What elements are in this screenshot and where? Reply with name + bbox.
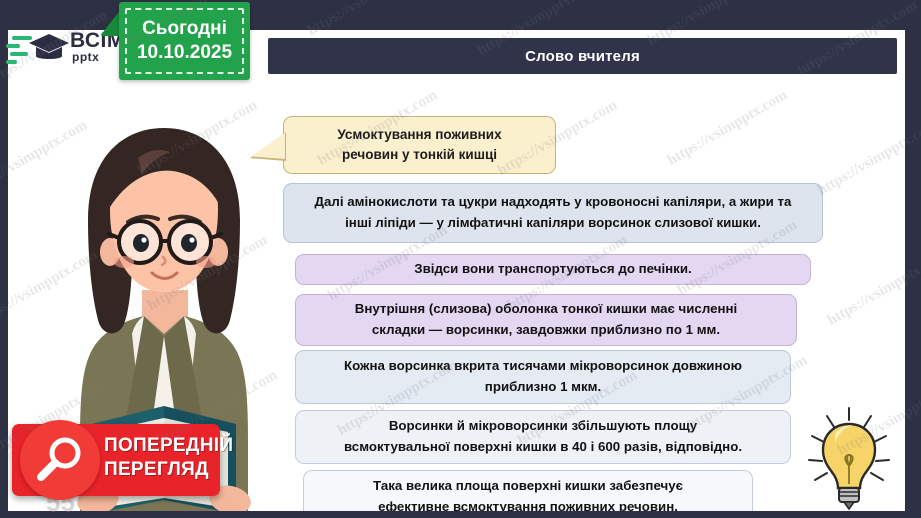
preview-badge[interactable]: ПОПЕРЕДНІЙ ПЕРЕГЛЯД <box>12 424 220 496</box>
today-label: Сьогодні <box>142 17 227 41</box>
today-badge: Сьогодні 10.10.2025 <box>119 2 250 80</box>
content-line: Ворсинки й мікроворсинки збільшують площ… <box>296 416 790 437</box>
content-line: Внутрішня (слизова) оболонка тонкої кишк… <box>296 299 796 320</box>
content-box-surface-area: Ворсинки й мікроворсинки збільшують площ… <box>295 410 791 464</box>
magnifier-icon <box>34 434 86 486</box>
preview-line-1: ПОПЕРЕДНІЙ <box>104 434 216 458</box>
slide-header-bar: Слово вчителя <box>268 38 897 74</box>
content-box-absorption: Така велика площа поверхні кишки забезпе… <box>303 470 753 511</box>
page-title: Слово вчителя <box>525 48 640 65</box>
content-line: Кожна ворсинка вкрита тисячами мікроворс… <box>296 356 790 377</box>
callout-bubble: Усмоктування поживних речовин у тонкій к… <box>283 116 556 174</box>
content-line: Далі амінокислоти та цукри надходять у к… <box>284 192 822 213</box>
content-line: всмоктувальної поверхні кишки в 40 і 600… <box>296 437 790 458</box>
graduation-cap-icon <box>28 32 70 64</box>
content-line: Звідси вони транспортуються до печінки. <box>296 259 810 280</box>
lightbulb-icon <box>803 402 895 511</box>
content-line: приблизно 1 мкм. <box>296 377 790 398</box>
preview-line-2: ПЕРЕГЛЯД <box>104 458 216 482</box>
slide-root: Слово вчителя <box>0 0 921 518</box>
content-box-capillaries: Далі амінокислоти та цукри надходять у к… <box>283 183 823 243</box>
brand-subtitle: pptx <box>72 51 99 63</box>
content-box-mucosa: Внутрішня (слизова) оболонка тонкої кишк… <box>295 294 797 346</box>
today-date: 10.10.2025 <box>137 41 232 65</box>
content-line: ефективне всмоктування поживних речовин. <box>304 497 752 511</box>
content-box-microvilli: Кожна ворсинка вкрита тисячами мікроворс… <box>295 350 791 404</box>
preview-badge-text: ПОПЕРЕДНІЙ ПЕРЕГЛЯД <box>104 434 216 483</box>
callout-line-1: Усмоктування поживних <box>337 125 501 145</box>
content-line: складки — ворсинки, завдовжки приблизно … <box>296 320 796 341</box>
content-box-liver: Звідси вони транспортуються до печінки. <box>295 254 811 285</box>
content-line: інші ліпіди — у лімфатичні капіляри ворс… <box>284 213 822 234</box>
callout-line-2: речовин у тонкій кишці <box>342 145 497 165</box>
content-line: Така велика площа поверхні кишки забезпе… <box>304 476 752 497</box>
